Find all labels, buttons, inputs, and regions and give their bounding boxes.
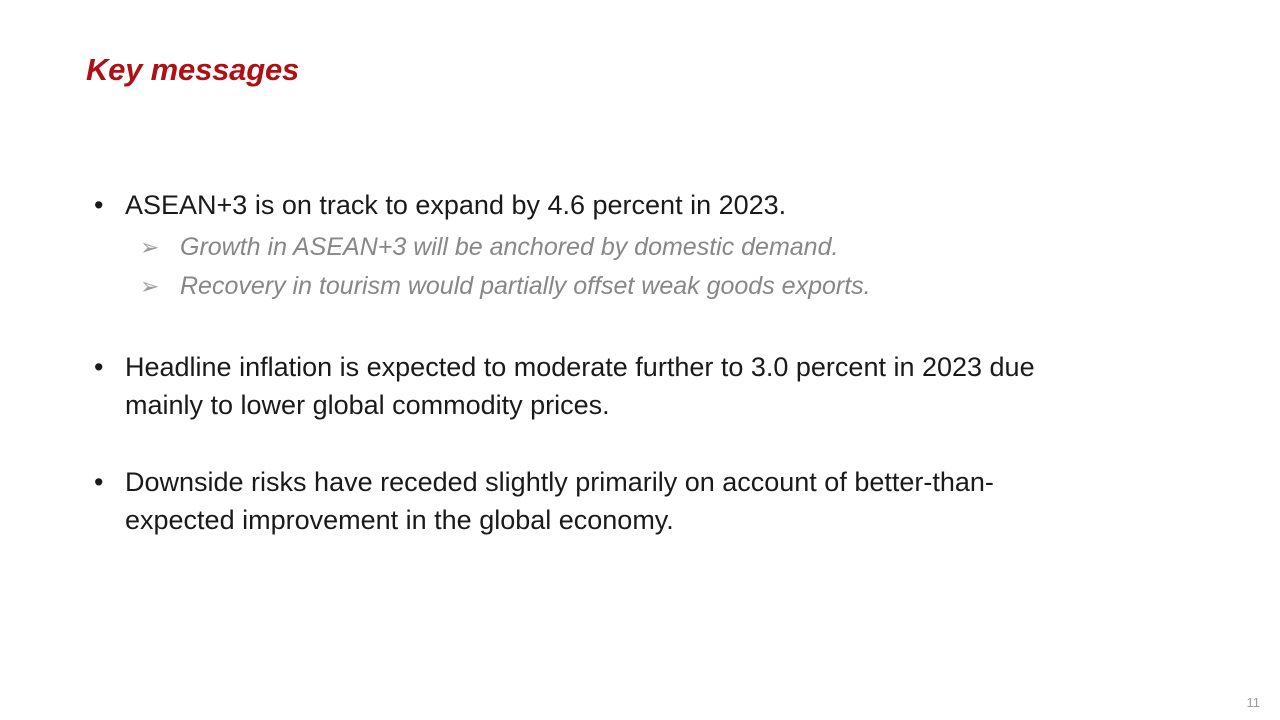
spacer [88,306,1088,348]
bullet-dot-icon: • [94,348,103,386]
bullet-dot-icon: • [94,463,103,501]
arrow-right-icon: ➢ [140,228,159,267]
sub-list-item: ➢ Growth in ASEAN+3 will be anchored by … [88,228,1088,267]
list-item-text: Headline inflation is expected to modera… [125,352,1035,420]
sub-bullet-list: ➢ Growth in ASEAN+3 will be anchored by … [88,228,1088,306]
list-item-text: Downside risks have receded slightly pri… [125,467,994,535]
sub-list-item-text: Recovery in tourism would partially offs… [180,272,871,300]
bullet-list: • ASEAN+3 is on track to expand by 4.6 p… [88,186,1088,539]
list-item: • ASEAN+3 is on track to expand by 4.6 p… [88,186,1088,224]
list-item: • Headline inflation is expected to mode… [88,348,1088,424]
slide-canvas: Key messages • ASEAN+3 is on track to ex… [0,0,1280,720]
list-item-text: ASEAN+3 is on track to expand by 4.6 per… [125,190,786,220]
page-number: 11 [1247,695,1261,710]
list-item: • Downside risks have receded slightly p… [88,463,1088,539]
sub-list-item: ➢ Recovery in tourism would partially of… [88,267,1088,306]
arrow-right-icon: ➢ [140,267,159,306]
spacer [88,424,1088,463]
page-title: Key messages [86,52,299,88]
bullet-dot-icon: • [94,186,103,224]
sub-list-item-text: Growth in ASEAN+3 will be anchored by do… [180,233,838,261]
